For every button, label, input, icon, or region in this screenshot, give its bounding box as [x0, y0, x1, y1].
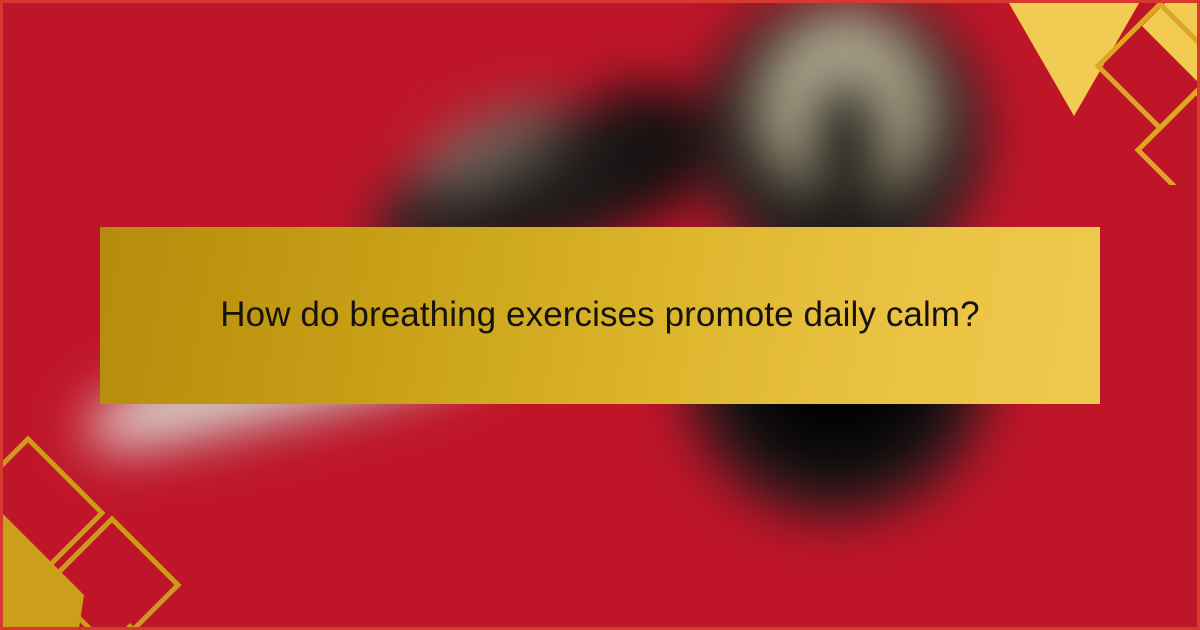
page-title: How do breathing exercises promote daily… — [220, 287, 979, 344]
social-share-card: How do breathing exercises promote daily… — [0, 0, 1200, 630]
title-banner: How do breathing exercises promote daily… — [100, 227, 1100, 404]
